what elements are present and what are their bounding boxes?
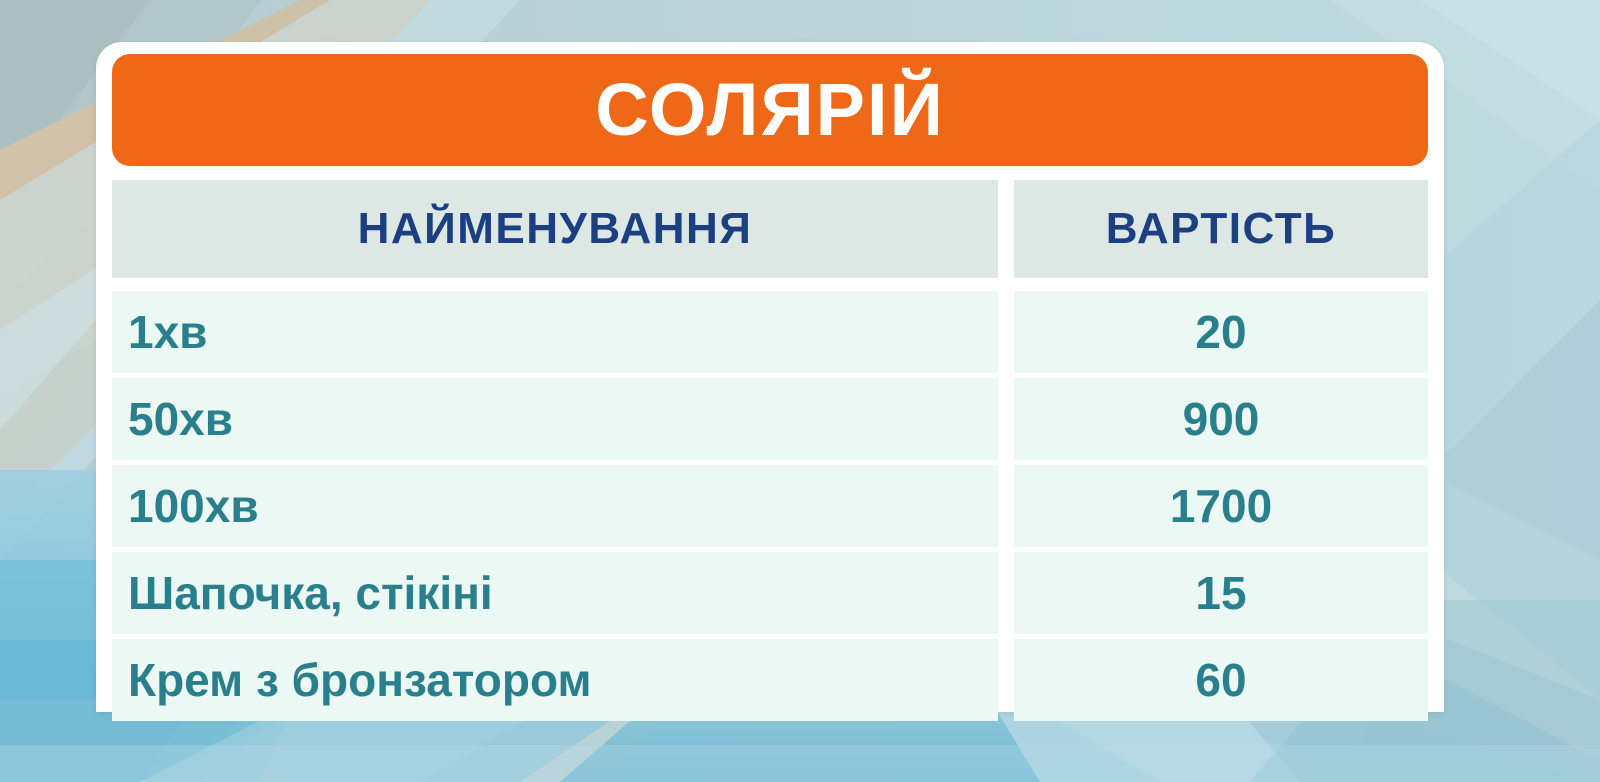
service-name: Крем з бронзатором <box>112 639 998 721</box>
column-header-price: ВАРТІСТЬ <box>1014 180 1428 278</box>
slide-canvas: СОЛЯРІЙ НАЙМЕНУВАННЯ ВАРТІСТЬ 1хв 20 50х… <box>0 0 1600 782</box>
table-row: 100хв 1700 <box>112 465 1428 547</box>
table-header-row: НАЙМЕНУВАННЯ ВАРТІСТЬ <box>112 180 1428 278</box>
card-title-band: СОЛЯРІЙ <box>112 54 1428 166</box>
page-title: СОЛЯРІЙ <box>595 73 945 147</box>
table-row: 1хв 20 <box>112 291 1428 373</box>
service-price: 1700 <box>1014 465 1428 547</box>
table-row: Шапочка, стікіні 15 <box>112 552 1428 634</box>
service-price: 20 <box>1014 291 1428 373</box>
service-price: 60 <box>1014 639 1428 721</box>
service-price: 900 <box>1014 378 1428 460</box>
column-header-name: НАЙМЕНУВАННЯ <box>112 180 998 278</box>
service-price: 15 <box>1014 552 1428 634</box>
table-row: 50хв 900 <box>112 378 1428 460</box>
price-table: НАЙМЕНУВАННЯ ВАРТІСТЬ 1хв 20 50хв 900 10… <box>112 180 1428 721</box>
service-name: 50хв <box>112 378 998 460</box>
service-name: 100хв <box>112 465 998 547</box>
table-row: Крем з бронзатором 60 <box>112 639 1428 721</box>
service-name: Шапочка, стікіні <box>112 552 998 634</box>
service-name: 1хв <box>112 291 998 373</box>
price-list-card: СОЛЯРІЙ НАЙМЕНУВАННЯ ВАРТІСТЬ 1хв 20 50х… <box>96 42 1444 712</box>
